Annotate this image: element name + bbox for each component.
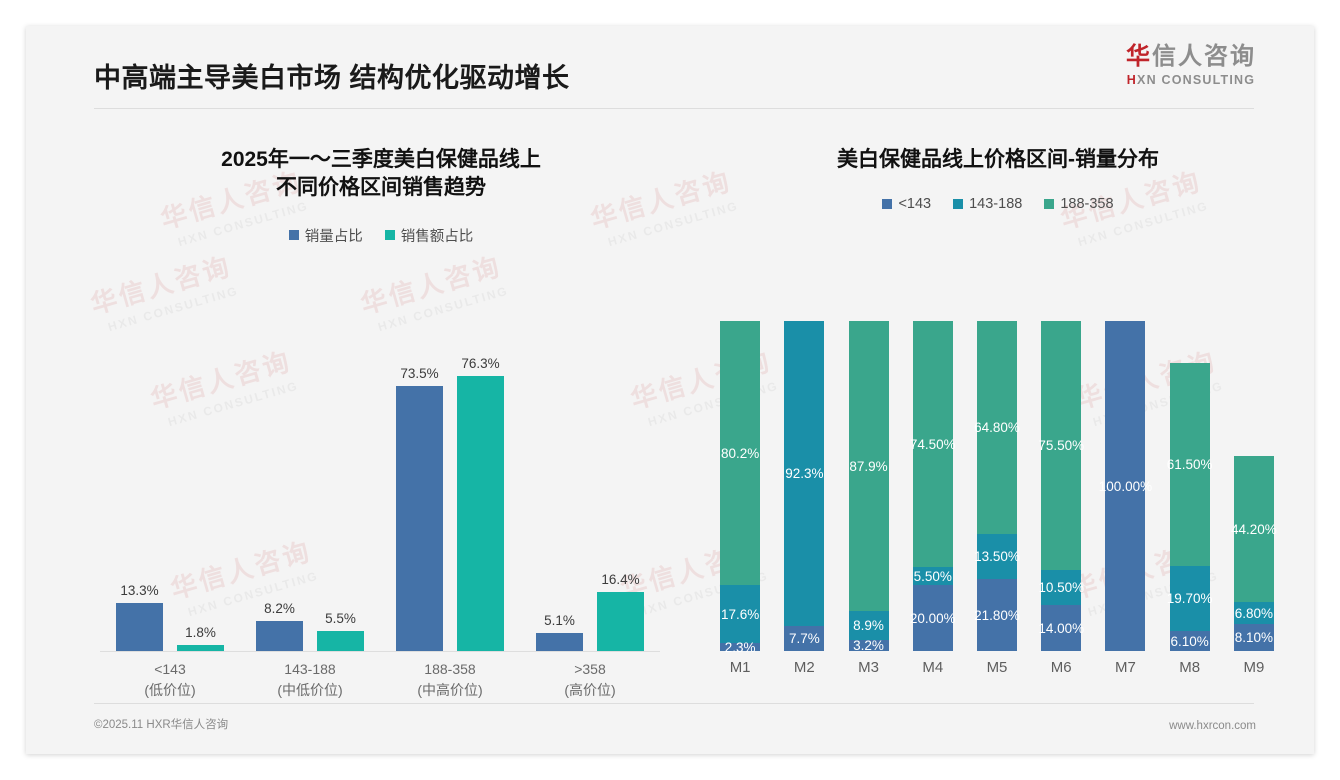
- left-chart-legend-item[interactable]: 销售额占比: [385, 225, 474, 246]
- bar-group: 5.1%16.4%: [520, 321, 660, 651]
- stacked-bar-segment[interactable]: 64.80%: [977, 321, 1017, 534]
- right-chart-x-axis-labels: M1M2M3M4M5M6M7M8M9: [708, 659, 1286, 689]
- stacked-bar[interactable]: 74.50%5.50%20.00%: [913, 321, 953, 651]
- bar[interactable]: [116, 603, 163, 651]
- segment-value-label: 20.00%: [910, 611, 956, 626]
- left-chart-x-axis-line: [100, 651, 660, 652]
- stacked-bar[interactable]: 80.2%17.6%2.3%: [720, 321, 760, 651]
- grouped-bar-plot-area: 13.3%1.8%8.2%5.5%73.5%76.3%5.1%16.4%: [100, 321, 660, 651]
- logo-en-rest: XN CONSULTING: [1137, 73, 1255, 87]
- bar-value-label: 8.2%: [264, 601, 295, 616]
- stacked-bar-segment[interactable]: 3.2%: [849, 640, 889, 651]
- chart-panel-left: 2025年一～三季度美白保健品线上 不同价格区间销售趋势 销量占比销售额占比 1…: [66, 146, 696, 706]
- bar-column[interactable]: 13.3%: [116, 321, 163, 651]
- segment-value-label: 5.50%: [914, 569, 952, 584]
- right-chart-title: 美白保健品线上价格区间-销量分布: [698, 146, 1298, 174]
- bar-value-label: 73.5%: [400, 366, 438, 381]
- right-chart-legend-item[interactable]: 143-188: [953, 196, 1022, 212]
- legend-label: 销量占比: [305, 225, 363, 246]
- legend-label: 143-188: [969, 196, 1022, 212]
- segment-value-label: 17.6%: [721, 607, 759, 622]
- bar-value-label: 5.5%: [325, 611, 356, 626]
- legend-swatch-icon: [882, 199, 892, 209]
- chart-panel-right: 美白保健品线上价格区间-销量分布 <143143-188188-358 80.2…: [698, 146, 1298, 706]
- company-logo: 华信人咨询 HXN CONSULTING: [1126, 44, 1256, 87]
- stacked-bar-segment[interactable]: 19.70%: [1170, 566, 1210, 631]
- stacked-bar-plot-area: 80.2%17.6%2.3%92.3%7.7%87.9%8.9%3.2%74.5…: [708, 321, 1286, 651]
- left-chart-title-line2: 不同价格区间销售趋势: [76, 174, 686, 202]
- stacked-bar-segment[interactable]: 75.50%: [1041, 321, 1081, 570]
- segment-value-label: 14.00%: [1038, 621, 1084, 636]
- stacked-bar-segment[interactable]: 100.00%: [1105, 321, 1145, 651]
- legend-label: <143: [898, 196, 931, 212]
- bar[interactable]: [597, 592, 644, 651]
- stacked-bar-segment[interactable]: 44.20%: [1234, 456, 1274, 602]
- segment-value-label: 19.70%: [1167, 591, 1213, 606]
- x-axis-tick: <143(低价位): [100, 659, 240, 701]
- bar-column[interactable]: 76.3%: [457, 321, 504, 651]
- bar-group: 13.3%1.8%: [100, 321, 240, 651]
- segment-value-label: 8.9%: [853, 618, 884, 633]
- x-axis-tick-label: 143-188: [240, 659, 380, 680]
- x-axis-tick-label: M7: [1093, 659, 1157, 676]
- stacked-bar[interactable]: 75.50%10.50%14.00%: [1041, 321, 1081, 651]
- bar-column[interactable]: 8.2%: [256, 321, 303, 651]
- bar-value-label: 5.1%: [544, 613, 575, 628]
- bar-value-label: 76.3%: [461, 356, 499, 371]
- left-chart-title: 2025年一～三季度美白保健品线上 不同价格区间销售趋势: [66, 146, 696, 203]
- x-axis-tick-sublabel: (高价位): [520, 680, 660, 701]
- segment-value-label: 61.50%: [1167, 457, 1213, 472]
- legend-swatch-icon: [289, 230, 299, 240]
- bar-group: 73.5%76.3%: [380, 321, 520, 651]
- bar-value-label: 1.8%: [185, 625, 216, 640]
- stacked-bar-segment[interactable]: 87.9%: [849, 321, 889, 611]
- page-title: 中高端主导美白市场 结构优化驱动增长: [94, 56, 570, 95]
- grouped-bar-chart: 13.3%1.8%8.2%5.5%73.5%76.3%5.1%16.4% <14…: [100, 321, 660, 711]
- x-axis-tick-label: M5: [965, 659, 1029, 676]
- bar[interactable]: [396, 386, 443, 651]
- legend-swatch-icon: [953, 199, 963, 209]
- bar[interactable]: [317, 631, 364, 651]
- x-axis-tick-label: M6: [1029, 659, 1093, 676]
- x-axis-tick: 143-188(中低价位): [240, 659, 380, 701]
- segment-value-label: 13.50%: [974, 549, 1020, 564]
- segment-value-label: 3.2%: [853, 638, 884, 653]
- stacked-bar-segment[interactable]: 10.50%: [1041, 570, 1081, 605]
- x-axis-tick-sublabel: (低价位): [100, 680, 240, 701]
- segment-value-label: 75.50%: [1038, 438, 1084, 453]
- legend-swatch-icon: [1044, 199, 1054, 209]
- stacked-bar-segment[interactable]: 6.10%: [1170, 631, 1210, 651]
- stacked-bar-segment[interactable]: 8.9%: [849, 611, 889, 640]
- stacked-bar-segment[interactable]: 61.50%: [1170, 363, 1210, 566]
- stacked-bar-chart: 80.2%17.6%2.3%92.3%7.7%87.9%8.9%3.2%74.5…: [708, 321, 1286, 711]
- stacked-bar[interactable]: 92.3%7.7%: [784, 321, 824, 651]
- x-axis-tick: 188-358(中高价位): [380, 659, 520, 701]
- stacked-bar-segment[interactable]: 5.50%: [913, 567, 953, 585]
- x-axis-tick-label: <143: [100, 659, 240, 680]
- stacked-bar-segment[interactable]: 8.10%: [1234, 624, 1274, 651]
- segment-value-label: 92.3%: [785, 466, 823, 481]
- segment-value-label: 10.50%: [1038, 580, 1084, 595]
- stacked-bar[interactable]: 44.20%6.80%8.10%: [1234, 456, 1274, 651]
- left-chart-legend: 销量占比销售额占比: [66, 225, 696, 246]
- stacked-bar-segment[interactable]: 14.00%: [1041, 605, 1081, 651]
- x-axis-tick-label: M8: [1158, 659, 1222, 676]
- logo-english-text: HXN CONSULTING: [1126, 73, 1256, 87]
- legend-label: 销售额占比: [401, 225, 474, 246]
- footer-divider: [94, 703, 1254, 704]
- segment-value-label: 6.80%: [1235, 606, 1273, 621]
- logo-cn-rest: 信人咨询: [1152, 43, 1256, 70]
- footer-copyright: ©2025.11 HXR华信人咨询: [94, 716, 228, 732]
- stacked-bar-segment[interactable]: 80.2%: [720, 321, 760, 585]
- segment-value-label: 80.2%: [721, 446, 759, 461]
- legend-label: 188-358: [1060, 196, 1113, 212]
- slide-header: 中高端主导美白市场 结构优化驱动增长 华信人咨询 HXN CONSULTING: [26, 26, 1314, 118]
- segment-value-label: 8.10%: [1235, 630, 1273, 645]
- stacked-bar-segment[interactable]: 17.6%: [720, 585, 760, 643]
- stacked-bar-segment[interactable]: 6.80%: [1234, 602, 1274, 624]
- x-axis-tick: >358(高价位): [520, 659, 660, 701]
- x-axis-tick-label: 188-358: [380, 659, 520, 680]
- right-chart-legend-item[interactable]: <143: [882, 196, 931, 212]
- footer-website: www.hxrcon.com: [1169, 720, 1256, 732]
- logo-cn-accent: 华: [1126, 43, 1152, 70]
- bar-column[interactable]: 16.4%: [597, 321, 644, 651]
- bar-column[interactable]: 73.5%: [396, 321, 443, 651]
- segment-value-label: 100.00%: [1099, 479, 1152, 494]
- segment-value-label: 44.20%: [1231, 522, 1277, 537]
- stacked-bar[interactable]: 100.00%: [1105, 321, 1145, 651]
- segment-value-label: 21.80%: [974, 608, 1020, 623]
- stacked-bar-segment[interactable]: 92.3%: [784, 321, 824, 626]
- segment-value-label: 6.10%: [1171, 634, 1209, 649]
- bar[interactable]: [457, 376, 504, 651]
- right-chart-legend: <143143-188188-358: [698, 196, 1298, 212]
- left-chart-x-axis-labels: <143(低价位)143-188(中低价位)188-358(中高价位)>358(…: [100, 659, 660, 715]
- left-chart-legend-item[interactable]: 销量占比: [289, 225, 363, 246]
- stacked-bar-segment[interactable]: 20.00%: [913, 585, 953, 651]
- segment-value-label: 87.9%: [849, 459, 887, 474]
- stacked-bar[interactable]: 87.9%8.9%3.2%: [849, 321, 889, 651]
- segment-value-label: 64.80%: [974, 420, 1020, 435]
- left-chart-title-line1: 2025年一～三季度美白保健品线上: [76, 146, 686, 174]
- x-axis-tick-label: M4: [901, 659, 965, 676]
- x-axis-tick-label: M2: [772, 659, 836, 676]
- header-divider: [94, 108, 1254, 109]
- x-axis-tick-label: >358: [520, 659, 660, 680]
- x-axis-tick-sublabel: (中低价位): [240, 680, 380, 701]
- bar-group: 8.2%5.5%: [240, 321, 380, 651]
- slide: 中高端主导美白市场 结构优化驱动增长 华信人咨询 HXN CONSULTING …: [26, 26, 1314, 754]
- stacked-bar-segment[interactable]: 74.50%: [913, 321, 953, 567]
- segment-value-label: 2.3%: [725, 640, 756, 655]
- bar-value-label: 13.3%: [120, 583, 158, 598]
- x-axis-tick-sublabel: (中高价位): [380, 680, 520, 701]
- bar-column[interactable]: 5.5%: [317, 321, 364, 651]
- stacked-bar[interactable]: 61.50%19.70%6.10%: [1170, 363, 1210, 651]
- segment-value-label: 7.7%: [789, 631, 820, 646]
- bar-column[interactable]: 1.8%: [177, 321, 224, 651]
- logo-chinese-text: 华信人咨询: [1126, 44, 1256, 70]
- stacked-bar[interactable]: 64.80%13.50%21.80%: [977, 321, 1017, 651]
- segment-value-label: 74.50%: [910, 437, 956, 452]
- bar-column[interactable]: 5.1%: [536, 321, 583, 651]
- x-axis-tick-label: M9: [1222, 659, 1286, 676]
- stacked-bar-segment[interactable]: 2.3%: [720, 643, 760, 651]
- legend-swatch-icon: [385, 230, 395, 240]
- logo-en-accent: H: [1127, 73, 1137, 87]
- right-chart-legend-item[interactable]: 188-358: [1044, 196, 1113, 212]
- bar[interactable]: [256, 621, 303, 651]
- x-axis-tick-label: M3: [836, 659, 900, 676]
- stacked-bar-segment[interactable]: 21.80%: [977, 579, 1017, 651]
- x-axis-tick-label: M1: [708, 659, 772, 676]
- stacked-bar-segment[interactable]: 13.50%: [977, 534, 1017, 579]
- bar-value-label: 16.4%: [601, 572, 639, 587]
- stacked-bar-segment[interactable]: 7.7%: [784, 626, 824, 651]
- bar[interactable]: [536, 633, 583, 651]
